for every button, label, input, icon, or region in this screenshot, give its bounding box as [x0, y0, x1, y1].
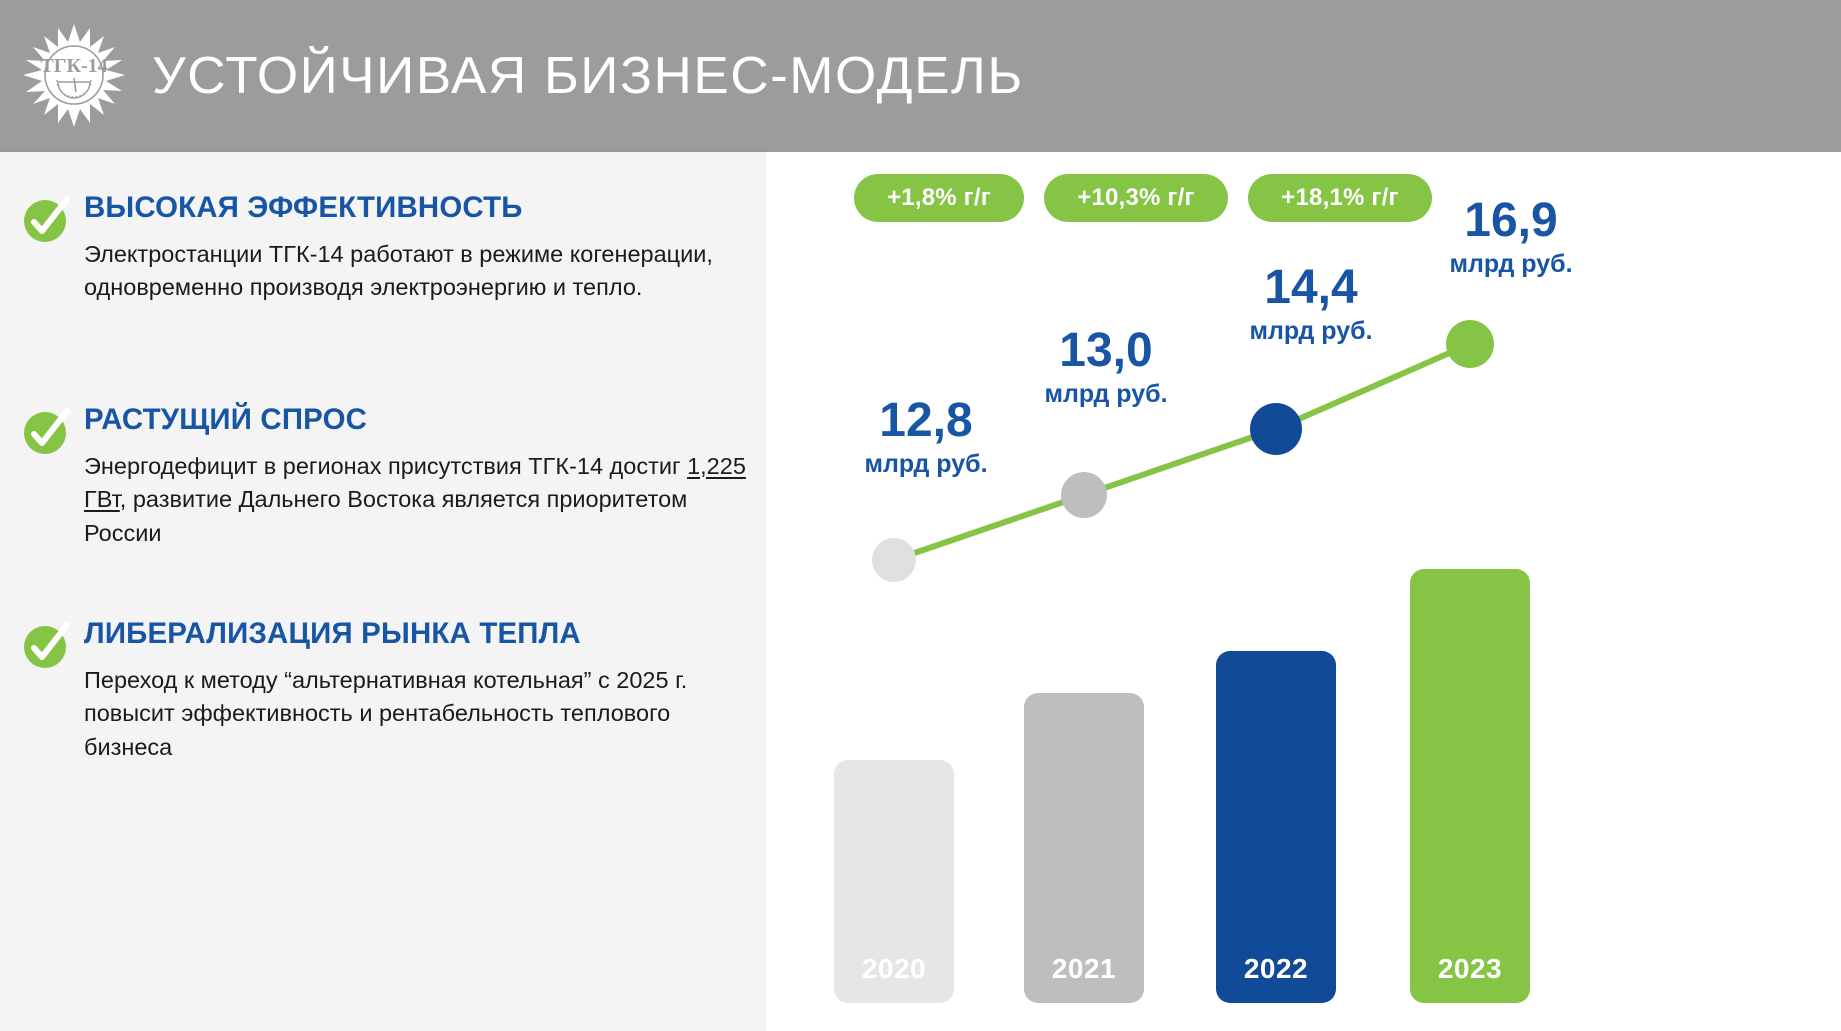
bar-group: 2020 2021 2022 2023 — [766, 152, 1841, 1031]
revenue-bar-chart: +1,8% г/г +10,3% г/г +18,1% г/г 12,8 млр… — [766, 152, 1841, 1031]
check-circle-icon — [22, 196, 70, 244]
feature-item-demand: РАСТУЩИЙ СПРОС Энергодефицит в регионах … — [22, 404, 746, 551]
feature-text: Электростанции ТГК-14 работают в режиме … — [84, 238, 746, 306]
bar-2022: 2022 — [1216, 651, 1336, 1003]
check-circle-icon — [22, 622, 70, 670]
logo-text: ТГК-14 — [40, 55, 107, 77]
feature-item-liberalization: ЛИБЕРАЛИЗАЦИЯ РЫНКА ТЕПЛА Переход к мето… — [22, 618, 746, 765]
feature-text-after: , развитие Дальнего Востока является при… — [84, 486, 687, 546]
bar-2021: 2021 — [1024, 693, 1144, 1003]
bar-year-label: 2022 — [1216, 953, 1336, 985]
feature-title: ВЫСОКАЯ ЭФФЕКТИВНОСТЬ — [84, 192, 733, 224]
slide-root: ТГК-14 УСТОЙЧИВАЯ БИЗНЕС-МОДЕЛЬ ВЫСОКАЯ … — [0, 0, 1841, 1031]
feature-text: Переход к методу “альтернативная котельн… — [84, 664, 746, 765]
feature-title: ЛИБЕРАЛИЗАЦИЯ РЫНКА ТЕПЛА — [84, 618, 733, 650]
tgk-14-sun-logo: ТГК-14 — [18, 20, 130, 132]
slide-header: ТГК-14 УСТОЙЧИВАЯ БИЗНЕС-МОДЕЛЬ — [0, 0, 1841, 152]
feature-title: РАСТУЩИЙ СПРОС — [84, 404, 733, 436]
bar-year-label: 2023 — [1410, 953, 1530, 985]
features-panel: ВЫСОКАЯ ЭФФЕКТИВНОСТЬ Электростанции ТГК… — [0, 152, 766, 1031]
bar-2023: 2023 — [1410, 569, 1530, 1003]
check-circle-icon — [22, 408, 70, 456]
feature-text: Энергодефицит в регионах присутствия ТГК… — [84, 450, 746, 551]
feature-item-efficiency: ВЫСОКАЯ ЭФФЕКТИВНОСТЬ Электростанции ТГК… — [22, 192, 746, 305]
bar-2020: 2020 — [834, 760, 954, 1003]
bar-year-label: 2020 — [834, 953, 954, 985]
page-title: УСТОЙЧИВАЯ БИЗНЕС-МОДЕЛЬ — [152, 46, 1024, 106]
bar-year-label: 2021 — [1024, 953, 1144, 985]
feature-text-before: Энергодефицит в регионах присутствия ТГК… — [84, 453, 687, 479]
